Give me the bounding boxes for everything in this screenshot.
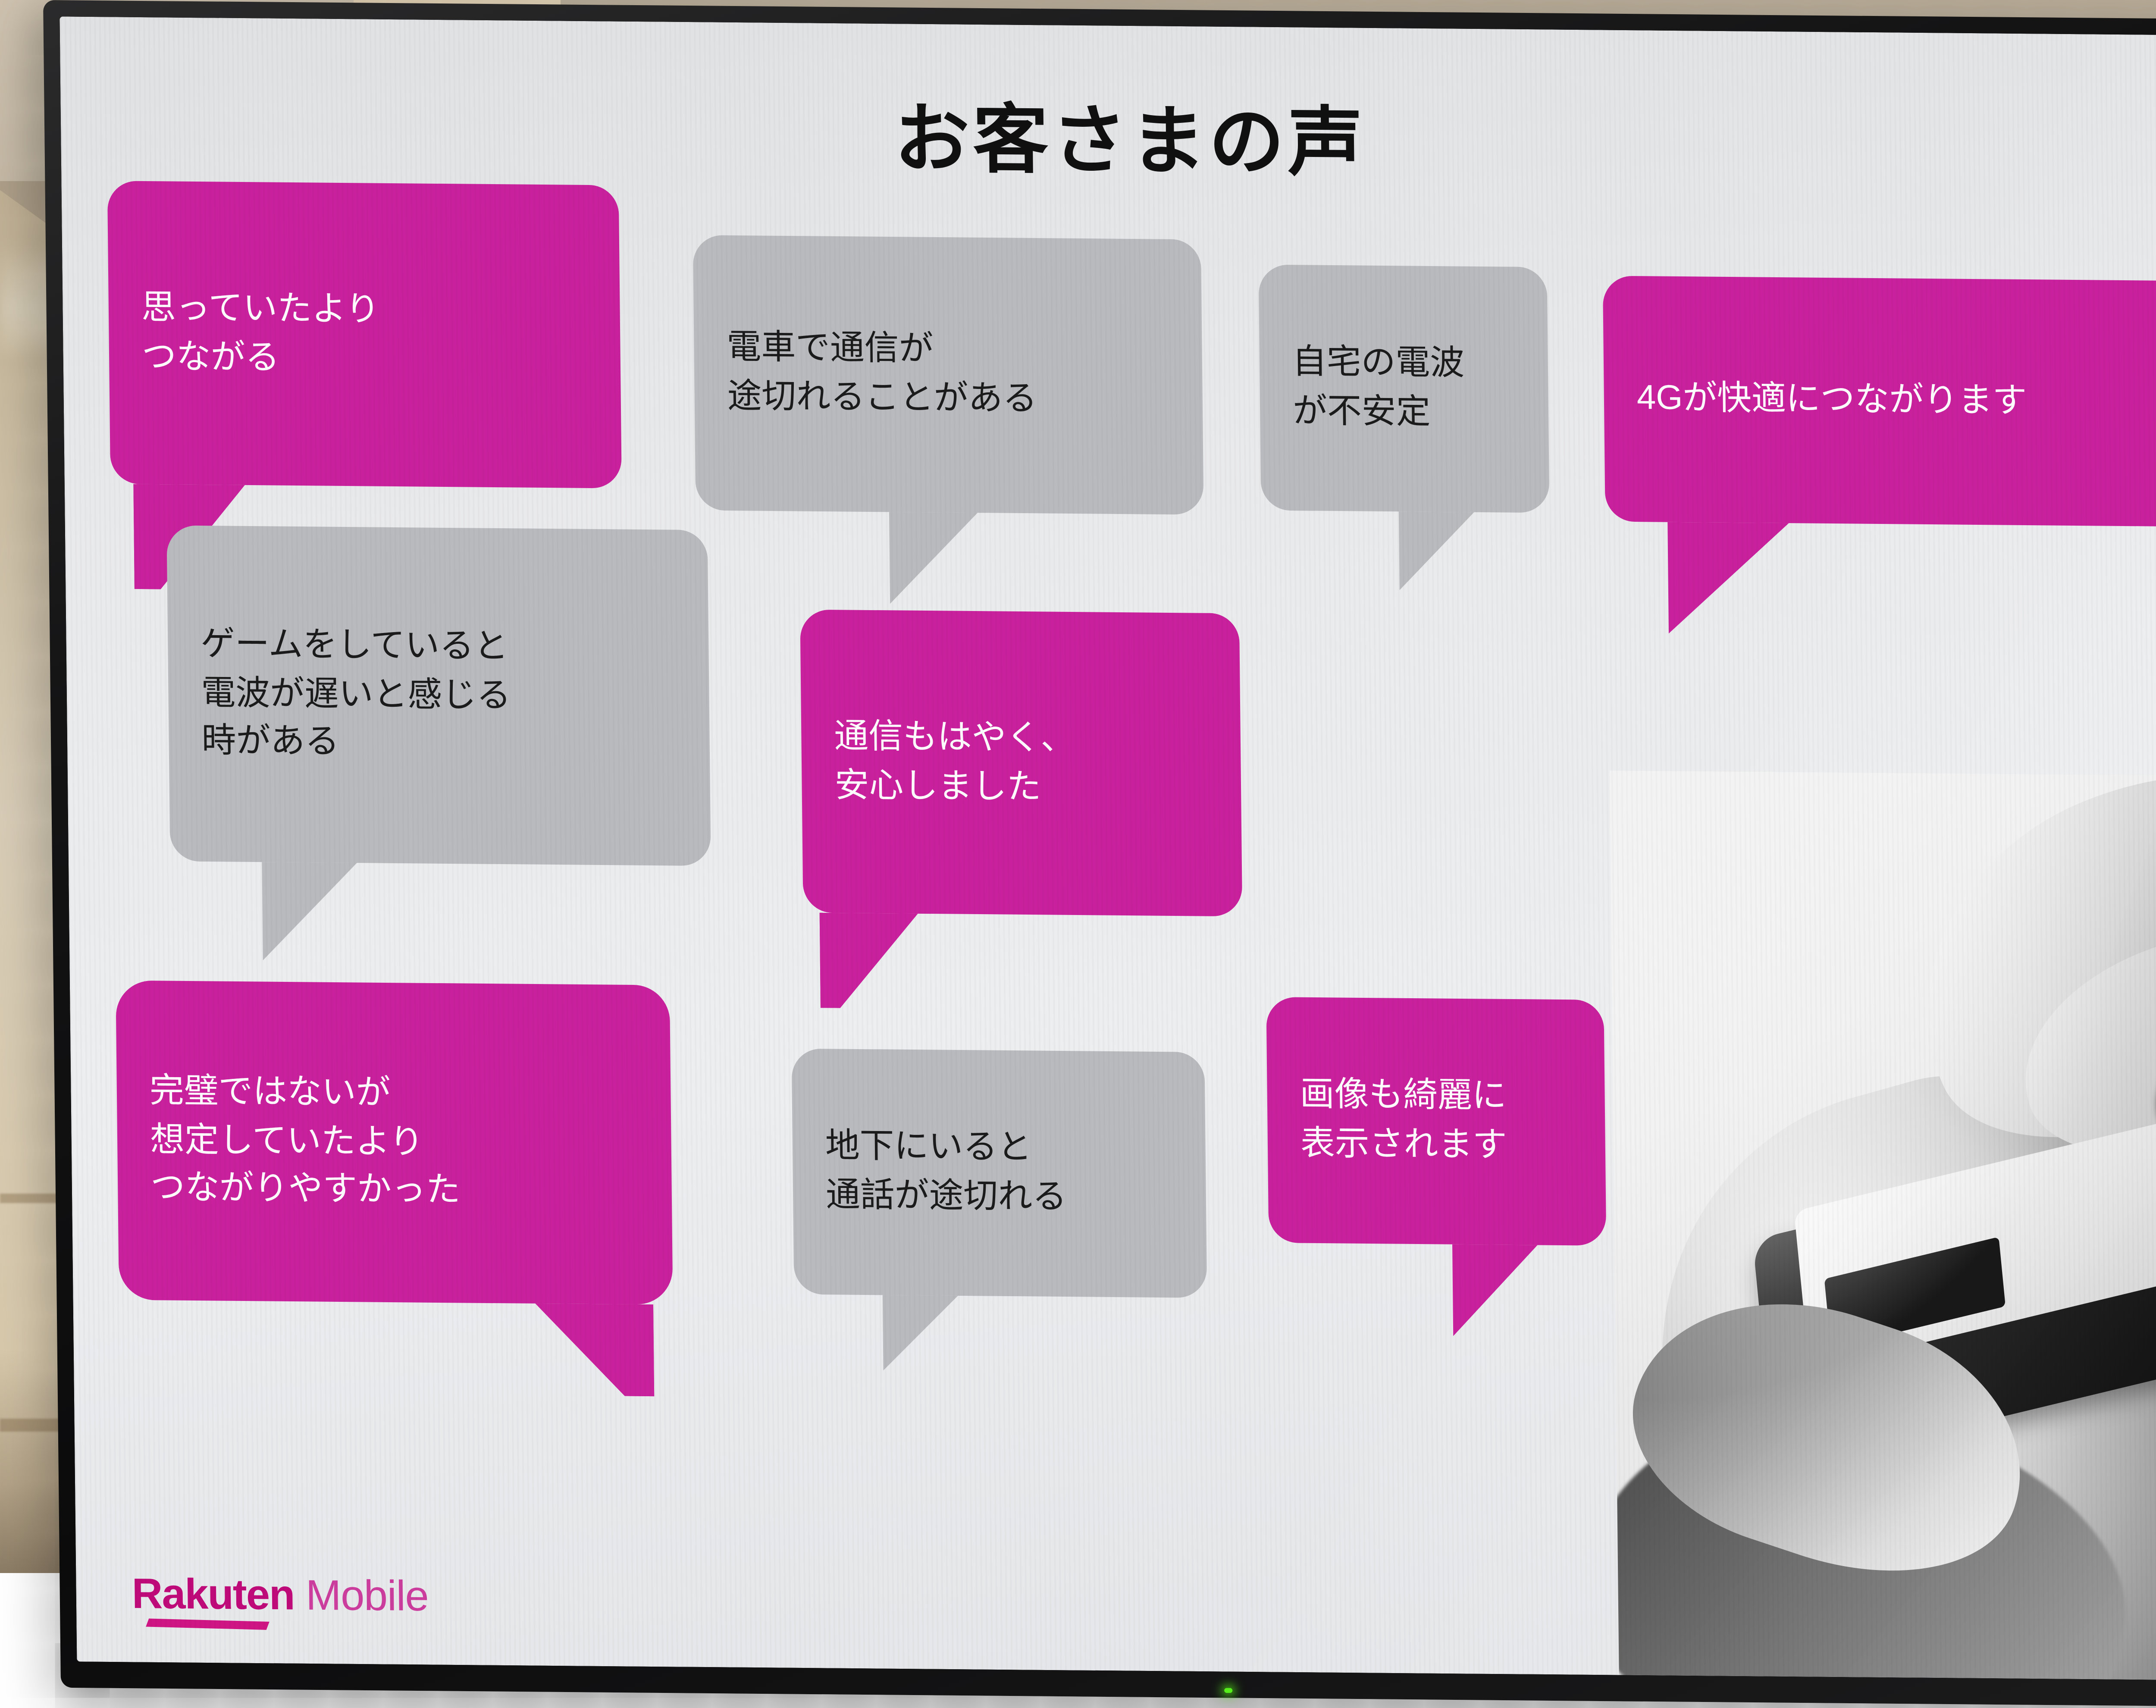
logo-brand-text: Rakuten — [132, 1569, 295, 1621]
speech-bubble-3[interactable]: 自宅の電波 が不安定 — [1259, 265, 1550, 513]
speech-bubble-8-tail — [883, 1295, 959, 1371]
speech-bubble-4[interactable]: 4Gが快適につながります — [1603, 276, 2156, 527]
speech-bubble-6-tail — [820, 913, 919, 1009]
logo-product-text: Mobile — [305, 1570, 429, 1622]
hand-holding-phone-photo — [1610, 771, 2156, 1682]
flat-panel-display: お客さまの声 思っていたより つながる 電車で通信が 途切れることがある 自宅の… — [43, 0, 2156, 1708]
speech-bubble-8-text: 地下にいると 通話が途切れる — [825, 1123, 1067, 1222]
speech-bubble-6-text: 通信もはやく、 安心しました — [834, 712, 1076, 812]
display-screen: お客さまの声 思っていたより つながる 電車で通信が 途切れることがある 自宅の… — [60, 16, 2156, 1681]
speech-bubble-7-text: 完璧ではないが 想定していたより つながりやすかった — [149, 1067, 461, 1216]
speech-bubble-6[interactable]: 通信もはやく、 安心しました — [800, 610, 1242, 917]
speech-bubble-4-tail — [1667, 522, 1790, 635]
speech-bubble-2[interactable]: 電車で通信が 途切れることがある — [693, 235, 1204, 515]
page-title: お客さまの声 — [60, 72, 2156, 201]
speech-bubble-9[interactable]: 画像も綺麗に 表示されます — [1266, 997, 1606, 1246]
speech-bubble-5[interactable]: ゲームをしていると 電波が遅いと感じる 時がある — [166, 525, 711, 866]
speech-bubble-3-tail — [1399, 511, 1475, 591]
speech-bubble-7-tail — [535, 1304, 654, 1396]
speech-bubble-1-text: 思っていたより つながる — [141, 284, 380, 383]
speech-bubble-7[interactable]: 完璧ではないが 想定していたより つながりやすかった — [116, 981, 673, 1305]
presentation-slide: お客さまの声 思っていたより つながる 電車で通信が 途切れることがある 自宅の… — [60, 16, 2156, 1681]
speech-bubble-9-text: 画像も綺麗に 表示されます — [1300, 1071, 1507, 1171]
speech-bubble-3-text: 自宅の電波 が不安定 — [1292, 339, 1465, 438]
speech-bubble-2-text: 電車で通信が 途切れることがある — [727, 324, 1037, 425]
speech-bubble-4-text: 4Gが快適につながります — [1636, 374, 2027, 426]
rakuten-mobile-logo: Rakuten Mobile — [132, 1569, 429, 1622]
speech-bubble-5-tail — [262, 862, 358, 961]
speech-bubble-9-tail — [1452, 1244, 1539, 1337]
speech-bubble-8[interactable]: 地下にいると 通話が途切れる — [792, 1049, 1207, 1298]
speech-bubble-5-text: ゲームをしていると 電波が遅いと感じる 時がある — [201, 621, 512, 770]
power-led-indicator — [1224, 1688, 1232, 1693]
speech-bubble-1[interactable]: 思っていたより つながる — [107, 181, 622, 488]
display-bezel: お客さまの声 思っていたより つながる 電車で通信が 途切れることがある 自宅の… — [43, 0, 2156, 1708]
speech-bubble-2-tail — [889, 512, 978, 605]
